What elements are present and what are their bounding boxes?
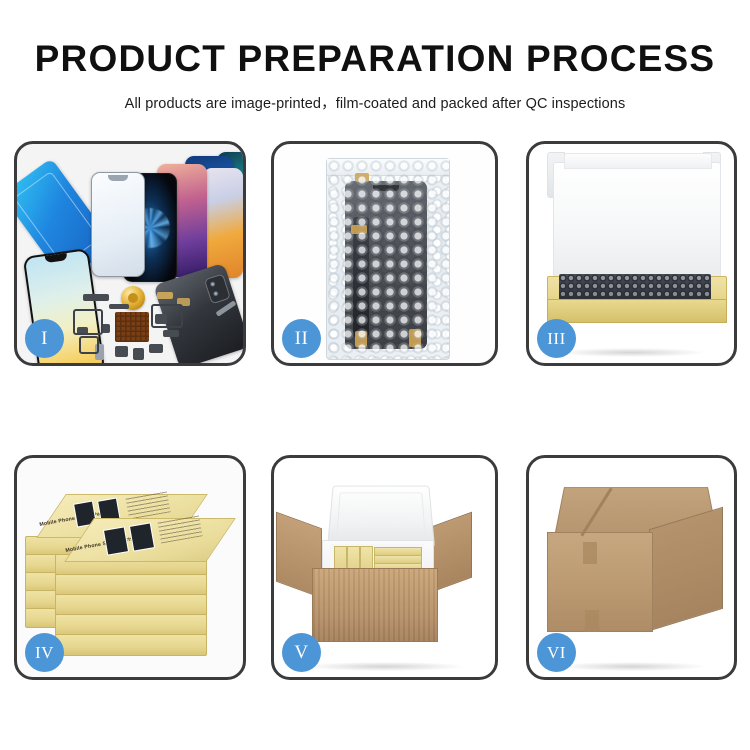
step-badge-3: III [537,319,576,358]
process-step-panel-3[interactable]: III [526,141,737,366]
drop-shadow [305,662,464,671]
flex-cable-icon [151,304,183,328]
flex-cable-icon [353,217,369,337]
spare-part [115,346,128,357]
tape-marker [355,331,367,347]
foam-cooler-lid [327,486,435,548]
process-step-panel-4[interactable]: Mobile Phone Spare Parts Mobile Phone Sp… [14,455,246,680]
drop-shadow [558,348,706,357]
step-badge-4: IV [25,633,64,672]
process-step-grid: I II III [0,128,750,728]
spare-part [163,330,179,337]
drop-shadow [558,662,706,671]
step-badge-1: I [25,319,64,358]
tape-marker [355,173,369,182]
step-badge-5: V [282,633,321,672]
step-badge-2: II [282,319,321,358]
box-window [129,522,155,551]
process-step-panel-1[interactable]: I [14,141,246,366]
step-badge-6: VI [537,633,576,672]
tape-marker [409,329,421,347]
bubble-wrap-bag [326,158,450,360]
spare-part [149,344,163,353]
flex-cable-icon [73,309,103,335]
stacked-box [55,574,207,596]
carton-front-face [547,532,653,632]
tempered-glass-icon [91,172,145,277]
carton-side-face [649,507,723,632]
stacked-box [55,634,207,656]
carton-tab [583,542,597,564]
process-step-panel-6[interactable]: VI [526,455,737,680]
page-subtitle: All products are image-printed，film-coat… [0,77,750,113]
box-window [103,526,129,555]
spare-part [133,348,144,360]
yellow-box-front [547,299,727,323]
spare-part [157,292,173,299]
carton-body [312,568,438,642]
stacked-box [55,614,207,636]
process-step-panel-2[interactable]: II [271,141,498,366]
ic-chip-icon [115,312,149,342]
stacked-box [55,594,207,616]
page-header: PRODUCT PREPARATION PROCESS All products… [0,0,750,128]
process-step-panel-5[interactable]: V [271,455,498,680]
page-title: PRODUCT PREPARATION PROCESS [0,0,750,77]
spare-part [109,304,129,309]
bubble-wrapped-contents [559,274,711,300]
white-box-lid [553,162,721,284]
flex-cable-icon [79,336,99,354]
carton-tab [585,610,599,632]
camera-module-icon [204,273,231,304]
spare-part [83,294,109,301]
phone-screen-orange [203,168,243,278]
tape-marker [351,225,367,234]
